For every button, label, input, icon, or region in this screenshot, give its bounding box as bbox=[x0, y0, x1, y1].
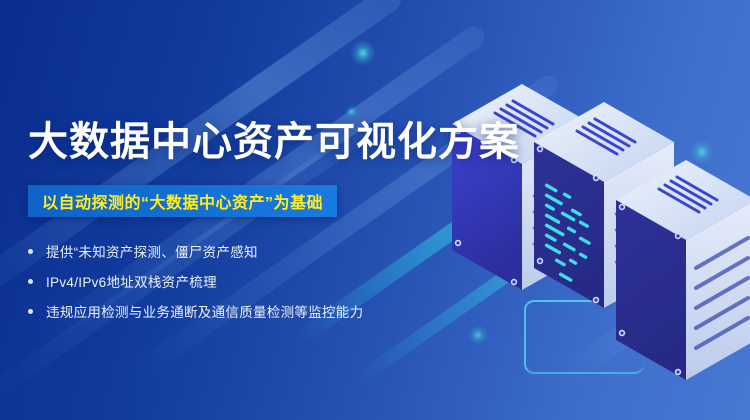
list-item-label: 违规应用检测与业务通断及通信质量检测等监控能力 bbox=[46, 301, 363, 321]
data-center-promo-banner: 大数据中心资产可视化方案 以自动探测的“大数据中心资产”为基础 提供“未知资产探… bbox=[0, 0, 750, 420]
bullet-dot-icon bbox=[28, 279, 33, 284]
list-item: IPv4/IPv6地址双栈资产梳理 bbox=[28, 266, 448, 296]
feature-bullet-list: 提供“未知资产探测、僵尸资产感知 IPv4/IPv6地址双栈资产梳理 违规应用检… bbox=[28, 236, 448, 326]
page-title: 大数据中心资产可视化方案 bbox=[28, 122, 520, 162]
list-item-label: 提供“未知资产探测、僵尸资产感知 bbox=[46, 241, 258, 261]
server-cabinet-3 bbox=[616, 160, 750, 380]
text-column: 大数据中心资产可视化方案 以自动探测的“大数据中心资产”为基础 提供“未知资产探… bbox=[0, 0, 460, 420]
list-item: 违规应用检测与业务通断及通信质量检测等监控能力 bbox=[28, 296, 448, 326]
bullet-dot-icon bbox=[28, 249, 33, 254]
subtitle-badge: 以自动探测的“大数据中心资产”为基础 bbox=[28, 185, 337, 217]
list-item-label: IPv4/IPv6地址双栈资产梳理 bbox=[46, 271, 217, 291]
list-item: 提供“未知资产探测、僵尸资产感知 bbox=[28, 236, 448, 266]
bullet-dot-icon bbox=[28, 309, 33, 314]
